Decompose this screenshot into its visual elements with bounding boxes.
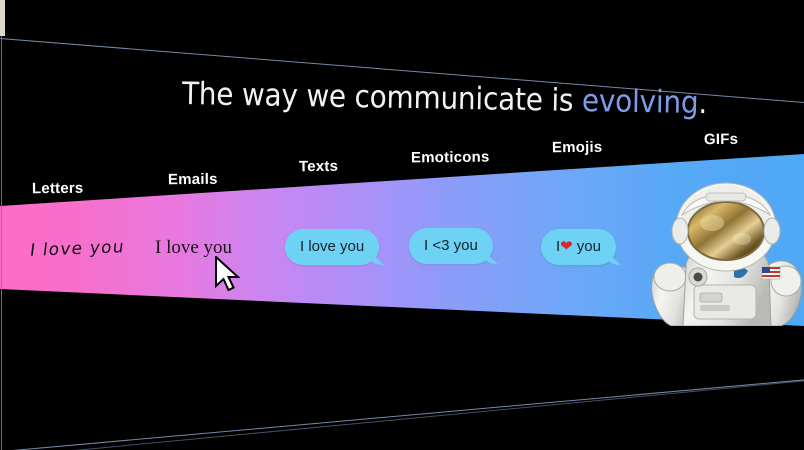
sample-message-bubble-emoticons: I <3 you bbox=[409, 228, 493, 264]
page-title-period: . bbox=[698, 85, 707, 121]
page-title: The way we communicate is evolving. bbox=[182, 76, 708, 121]
sample-message-bubble-texts: I love you bbox=[285, 229, 379, 265]
sample-message-letters: I love you bbox=[29, 237, 126, 261]
page-title-accent: evolving bbox=[582, 83, 699, 121]
bubble-text-texts: I love you bbox=[300, 238, 364, 255]
era-label-texts: Texts bbox=[299, 158, 338, 175]
era-label-gifs: GIFs bbox=[704, 131, 738, 148]
era-label-emails: Emails bbox=[168, 171, 218, 189]
astronaut-gif-image bbox=[650, 181, 804, 326]
heart-icon: ❤ bbox=[560, 238, 573, 255]
sample-message-emails: I love you bbox=[155, 237, 232, 259]
decorative-corner-sliver bbox=[0, 0, 5, 36]
decorative-diagonal-line-bottom-secondary bbox=[0, 379, 804, 450]
era-label-emojis: Emojis bbox=[552, 139, 603, 157]
decorative-vertical-line-left bbox=[1, 36, 2, 450]
sample-message-bubble-emojis: I❤you bbox=[541, 229, 616, 265]
bubble-text-emojis-suffix: you bbox=[577, 238, 601, 255]
decorative-diagonal-line-bottom bbox=[0, 378, 804, 450]
bubble-text-emoticons: I <3 you bbox=[424, 237, 478, 254]
slide-canvas: The way we communicate is evolving. Lett… bbox=[0, 0, 804, 450]
era-label-emoticons: Emoticons bbox=[411, 149, 490, 167]
era-label-letters: Letters bbox=[32, 180, 84, 198]
page-title-lead: The way we communicate is bbox=[182, 76, 583, 119]
